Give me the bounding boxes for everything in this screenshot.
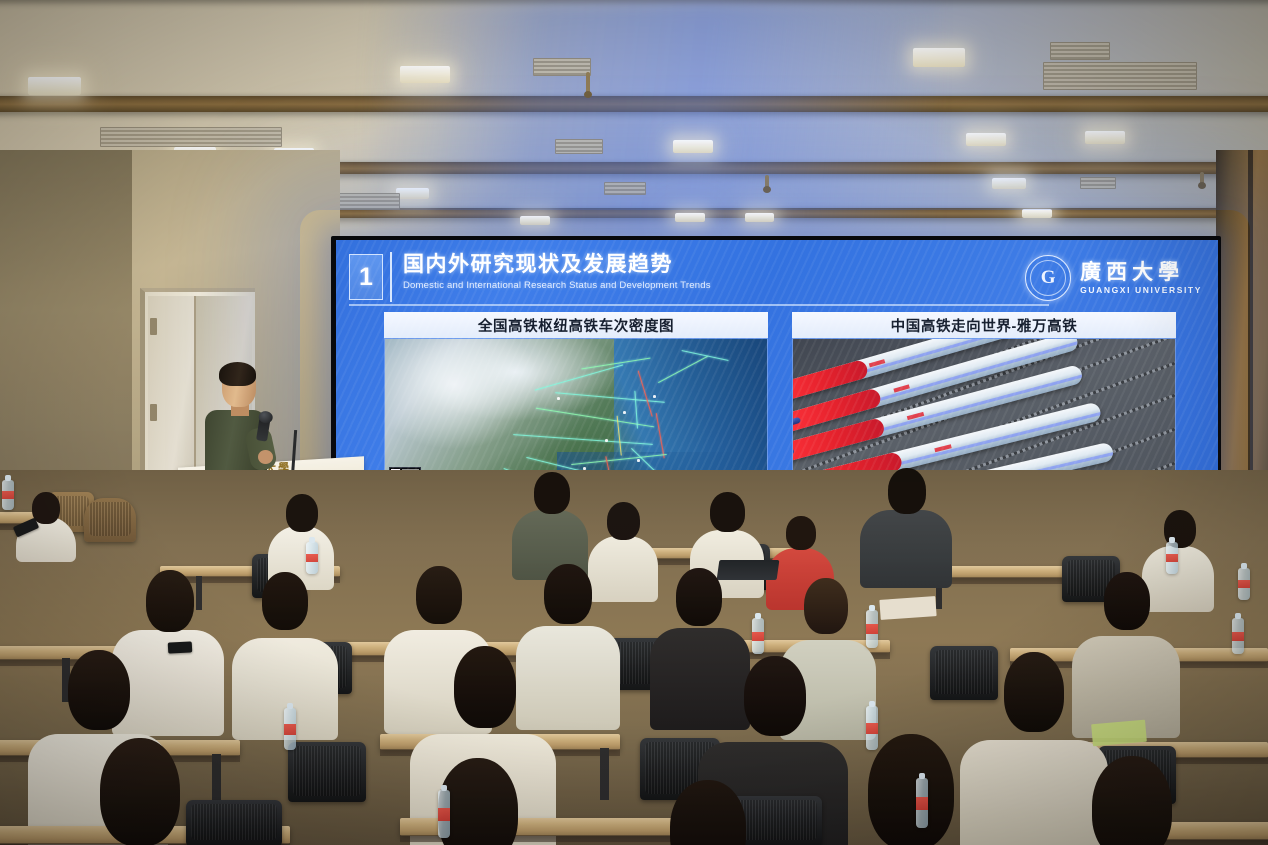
- ceiling-light: [396, 188, 429, 199]
- ceiling-light: [675, 213, 705, 222]
- air-vent: [1043, 62, 1197, 90]
- slide-title-en: Domestic and International Research Stat…: [403, 279, 1063, 292]
- water-bottle: [752, 618, 764, 654]
- audience-head: [607, 502, 640, 540]
- ceiling-light: [966, 133, 1006, 146]
- audience-torso: [650, 628, 750, 730]
- water-bottle: [866, 706, 878, 750]
- audience-head: [454, 646, 516, 728]
- ceiling-light: [1022, 209, 1052, 218]
- desk-leg: [600, 748, 609, 800]
- sprinkler-head: [586, 72, 590, 94]
- panel-caption-trains: 中国高铁走向世界-雅万高铁: [792, 312, 1176, 338]
- university-seal-icon: G: [1025, 255, 1071, 301]
- audience-head: [262, 572, 308, 630]
- door-hinge: [150, 404, 157, 421]
- door-hinge: [150, 318, 157, 335]
- air-vent: [1050, 42, 1110, 60]
- university-seal-glyph: G: [1041, 267, 1056, 289]
- audience-head: [1004, 652, 1064, 732]
- audience-head: [744, 656, 806, 736]
- water-bottle: [1238, 568, 1250, 600]
- rail-hub: [623, 411, 626, 414]
- audience-head: [438, 758, 518, 845]
- sprinkler-head: [1200, 172, 1204, 185]
- audience-head: [534, 472, 570, 514]
- chair: [288, 742, 366, 802]
- audience-head: [676, 568, 722, 626]
- audience-head: [286, 494, 318, 532]
- water-bottle: [306, 542, 318, 574]
- audience-head: [804, 578, 848, 634]
- audience-head: [888, 468, 926, 514]
- slide-section-number: 1: [359, 265, 373, 290]
- slide-title-block: 国内外研究现状及发展趋势 Domestic and International …: [390, 252, 1063, 302]
- rail-hub: [605, 439, 608, 442]
- water-bottle: [916, 778, 928, 828]
- university-name-en: GUANGXI UNIVERSITY: [1080, 285, 1202, 296]
- laptop: [717, 560, 780, 580]
- rail-hub: [653, 395, 656, 398]
- audience-head: [1092, 756, 1172, 845]
- air-vent: [533, 58, 591, 76]
- ceiling-light: [745, 213, 774, 222]
- audience-head: [786, 516, 816, 550]
- audience-area: [0, 470, 1268, 845]
- lecture-hall-photo: 1 国内外研究现状及发展趋势 Domestic and Internationa…: [0, 0, 1268, 845]
- ceiling-light: [992, 178, 1026, 189]
- university-logo: G 廣西大學 GUANGXI UNIVERSITY: [1025, 254, 1202, 302]
- air-vent: [1080, 177, 1116, 189]
- audience-torso: [516, 626, 620, 730]
- rail-hub: [557, 397, 560, 400]
- audience-torso: [960, 740, 1108, 845]
- water-bottle: [866, 610, 878, 648]
- ceiling-light: [1085, 131, 1125, 144]
- chair: [84, 498, 136, 542]
- water-bottle: [2, 480, 14, 510]
- ceiling-light: [400, 66, 450, 83]
- air-vent: [604, 182, 646, 195]
- audience-torso: [588, 536, 658, 602]
- audience-head: [100, 738, 180, 845]
- paper-sheet: [879, 596, 936, 620]
- university-name-cn: 廣西大學: [1080, 261, 1202, 283]
- sprinkler-head: [765, 175, 769, 189]
- audience-head: [146, 570, 194, 632]
- presenter-hand: [258, 450, 273, 464]
- university-logo-text: 廣西大學 GUANGXI UNIVERSITY: [1080, 261, 1202, 296]
- slide-title-cn: 国内外研究现状及发展趋势: [403, 252, 1063, 277]
- panel-caption-map: 全国高铁枢纽高铁车次密度图: [384, 312, 768, 338]
- audience-head: [68, 650, 130, 730]
- desk-leg: [196, 576, 202, 610]
- rail-hub: [637, 459, 640, 462]
- ceiling-beam-1: [0, 96, 1268, 112]
- water-bottle: [284, 708, 296, 750]
- audience-torso: [1142, 546, 1214, 612]
- water-bottle: [1232, 618, 1244, 654]
- smartphone: [168, 641, 193, 653]
- water-bottle: [1166, 542, 1178, 574]
- presenter-hair: [219, 362, 256, 386]
- audience-head: [1104, 572, 1150, 630]
- slide-header-divider: [349, 304, 1049, 306]
- audience-head: [868, 734, 954, 845]
- air-vent: [100, 127, 282, 147]
- ceiling-light: [28, 77, 81, 95]
- audience-head: [32, 492, 60, 524]
- slide-section-number-badge: 1: [349, 254, 383, 300]
- notebook: [1091, 720, 1147, 747]
- ceiling-light: [913, 48, 965, 67]
- chair: [186, 800, 282, 845]
- chair: [930, 646, 998, 700]
- slide-header: 1 国内外研究现状及发展趋势 Domestic and Internationa…: [336, 248, 1218, 306]
- ceiling-light: [673, 140, 713, 153]
- audience-head: [416, 566, 462, 624]
- audience-head: [544, 564, 592, 624]
- ceiling-light: [520, 216, 550, 225]
- audience-head: [710, 492, 745, 532]
- audience-torso: [860, 510, 952, 588]
- water-bottle: [438, 790, 450, 838]
- air-vent: [555, 139, 603, 154]
- desk-leg: [212, 754, 221, 804]
